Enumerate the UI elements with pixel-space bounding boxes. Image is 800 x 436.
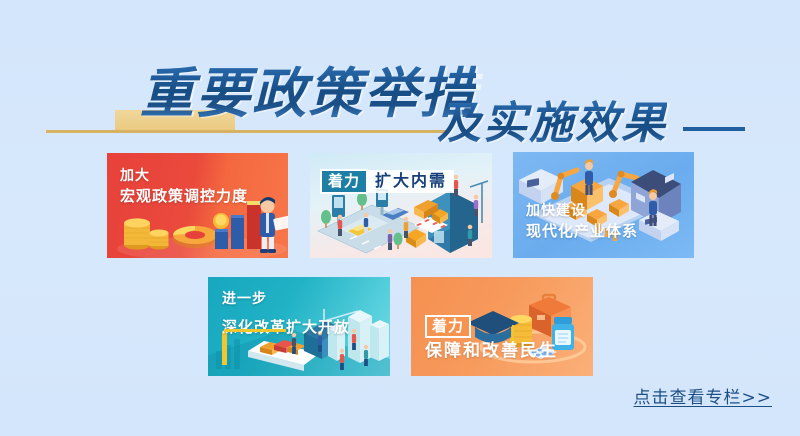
card-macro-policy-line2: 宏观政策调控力度 <box>120 186 248 207</box>
card-expand-domestic-demand-text: 着力扩大内需 <box>320 169 454 194</box>
poster-banner: 重要政策举措 重要政策举措 及实施效果 及实施效果 <box>0 0 800 436</box>
card-macro-policy[interactable]: 加大 宏观政策调控力度 <box>107 153 288 258</box>
card-modern-industrial-system-line2: 现代化产业体系 <box>526 221 638 242</box>
page-title-sub: 及实施效果 <box>437 100 667 148</box>
card-improve-peoples-livelihood-line2: 保障和改善民生 <box>425 341 558 362</box>
title-blue-rule <box>683 127 745 131</box>
card-expand-domestic-demand-line2: 扩大内需 <box>368 170 454 193</box>
card-macro-policy-text: 加大 宏观政策调控力度 <box>120 167 248 207</box>
card-deepen-reform-opening[interactable]: 进一步 深化改革扩大开放 <box>208 277 390 376</box>
card-deepen-reform-opening-line1: 进一步 <box>222 290 350 309</box>
card-deepen-reform-opening-accent <box>224 329 286 332</box>
card-improve-peoples-livelihood[interactable]: 着力 保障和改善民生 <box>411 277 593 376</box>
card-macro-policy-line1: 加大 <box>120 167 248 186</box>
view-column-link[interactable]: 点击查看专栏>> <box>634 383 773 408</box>
card-modern-industrial-system[interactable]: 加快建设 现代化产业体系 <box>513 152 694 258</box>
card-modern-industrial-system-text: 加快建设 现代化产业体系 <box>526 202 638 242</box>
card-improve-peoples-livelihood-line1: 着力 <box>425 315 471 338</box>
card-improve-peoples-livelihood-tag: 着力 <box>425 315 471 338</box>
card-deepen-reform-opening-line2: 深化改革扩大开放 <box>222 317 350 338</box>
card-expand-domestic-demand-line1: 着力 <box>320 169 368 194</box>
title-gold-rule <box>46 130 446 133</box>
title-area: 重要政策举措 重要政策举措 及实施效果 及实施效果 <box>0 28 800 133</box>
page-title-main: 重要政策举措 <box>140 64 476 122</box>
card-expand-domestic-demand[interactable]: 着力扩大内需 <box>310 153 492 258</box>
card-modern-industrial-system-line1: 加快建设 <box>526 202 638 221</box>
